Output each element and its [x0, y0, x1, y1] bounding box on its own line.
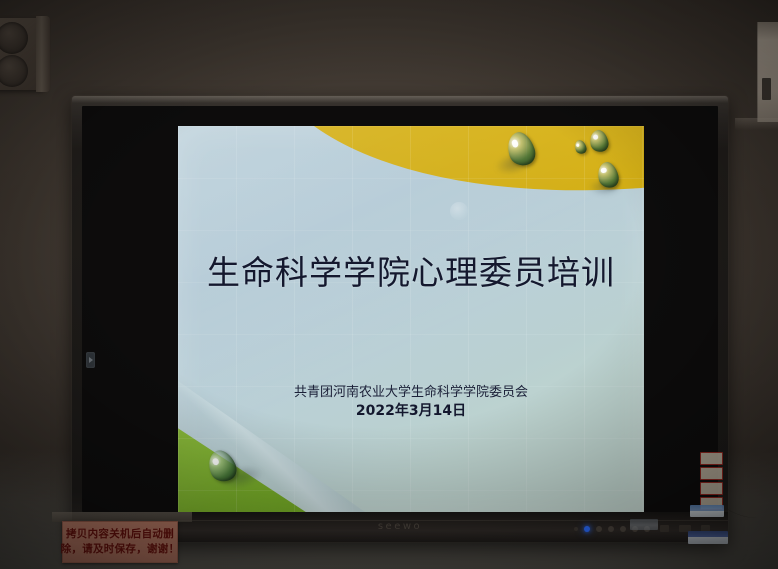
sticker-stack [700, 452, 723, 510]
slide-yellow-band [261, 126, 644, 246]
speaker-driver-bottom-icon [0, 55, 28, 87]
wall-mounted-panel [757, 22, 778, 122]
faint-bubble-icon [450, 202, 468, 220]
slide-date: 2022年3月14日 [178, 400, 644, 420]
control-dot-icon[interactable] [620, 526, 626, 532]
slide-organization: 共青团河南农业大学生命科学学院委员会 [178, 381, 644, 400]
control-dot-icon[interactable] [608, 526, 614, 532]
presentation-slide[interactable]: 生命科学学院心理委员培训 共青团河南农业大学生命科学学院委员会 2022年3月1… [178, 126, 644, 514]
blue-label-sticker [688, 531, 728, 544]
control-dot-icon[interactable] [574, 527, 578, 531]
control-dot-icon[interactable] [596, 526, 602, 532]
interactive-flat-panel[interactable]: 生命科学学院心理委员培训 共青团河南农业大学生命科学学院委员会 2022年3月1… [72, 96, 728, 542]
usb-port-icon[interactable] [660, 525, 669, 532]
red-label-sticker [700, 452, 723, 465]
red-label-sticker [700, 467, 723, 480]
speaker-driver-top-icon [0, 22, 28, 54]
wall-panel-slot [762, 78, 771, 100]
display-screen[interactable]: 生命科学学院心理委员培训 共青团河南农业大学生命科学学院委员会 2022年3月1… [82, 106, 718, 512]
power-led-icon [584, 526, 590, 532]
red-label-sticker [700, 482, 723, 495]
blue-label-sticker [690, 505, 724, 517]
notice-line-1: 拷贝内容关机后自动删 [66, 527, 174, 542]
slide-title: 生命科学学院心理委员培训 [178, 246, 644, 294]
warning-notice: 拷贝内容关机后自动删 除，请及时保存，谢谢！ [62, 521, 178, 563]
speaker-side-panel [36, 16, 50, 92]
notice-line-2: 除，请及时保存，谢谢！ [61, 542, 180, 557]
classroom-scene: 生命科学学院心理委员培训 共青团河南农业大学生命科学学院委员会 2022年3月1… [0, 0, 778, 569]
wall-trim [735, 118, 778, 130]
panel-top-highlight [72, 96, 728, 103]
wall-small-label [630, 519, 658, 530]
play-triangle-icon [89, 357, 93, 363]
